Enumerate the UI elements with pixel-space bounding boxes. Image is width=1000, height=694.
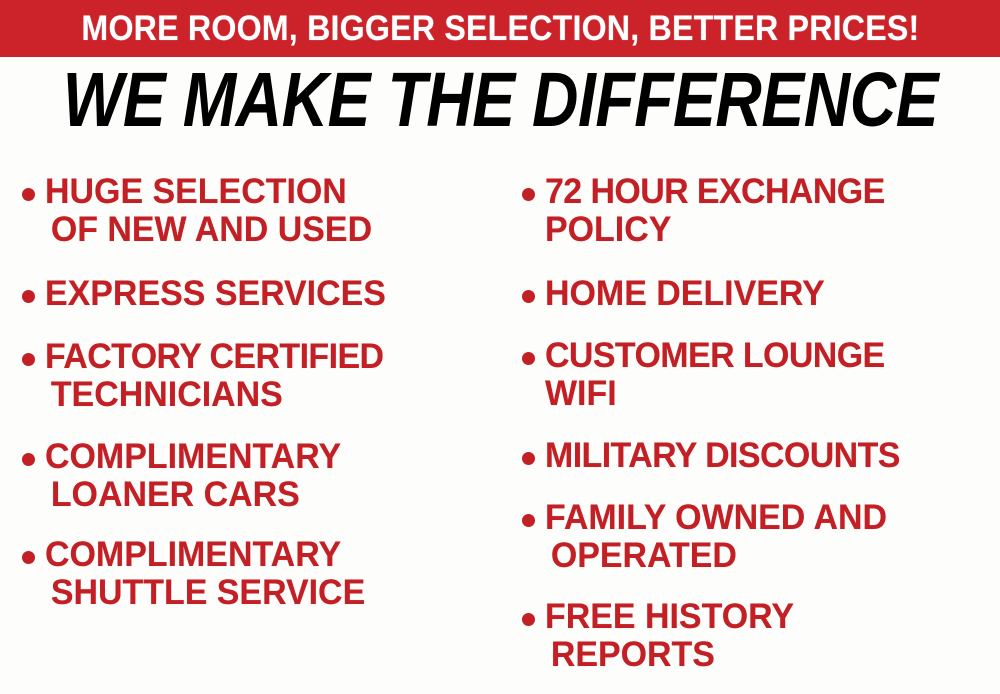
list-item-text: HUGE SELECTION OF NEW AND USED — [45, 173, 492, 249]
list-item-line: HUGE SELECTION — [45, 173, 479, 211]
list-item-line: FREE HISTORY — [545, 598, 979, 636]
list-item-line: MILITARY DISCOUNTS — [545, 437, 986, 475]
bullet-dot-icon — [522, 452, 535, 465]
bullet-dot-icon — [522, 352, 535, 365]
list-item: FREE HISTORY REPORTS — [522, 598, 992, 674]
headline: WE MAKE THE DIFFERENCE — [0, 63, 1000, 138]
promo-banner: MORE ROOM, BIGGER SELECTION, BETTER PRIC… — [0, 0, 1000, 57]
list-item-line: FAMILY OWNED AND — [545, 499, 979, 537]
list-item-text: HOME DELIVERY — [545, 275, 992, 313]
list-item-line: REPORTS — [545, 636, 979, 674]
list-item-line: HOME DELIVERY — [545, 275, 979, 313]
list-item-line: COMPLIMENTARY — [45, 438, 479, 476]
bullet-dot-icon — [22, 188, 35, 201]
list-item-text: MILITARY DISCOUNTS — [545, 437, 1000, 475]
promo-banner-text: MORE ROOM, BIGGER SELECTION, BETTER PRIC… — [81, 11, 919, 46]
list-item: FAMILY OWNED AND OPERATED — [522, 499, 992, 575]
feature-column-left: HUGE SELECTION OF NEW AND USED EXPRESS S… — [0, 150, 500, 694]
bullet-dot-icon — [22, 290, 35, 303]
bullet-dot-icon — [522, 613, 535, 626]
feature-columns: HUGE SELECTION OF NEW AND USED EXPRESS S… — [0, 150, 1000, 694]
list-item-text: CUSTOMER LOUNGE WIFI — [545, 337, 1000, 413]
list-item-text: COMPLIMENTARY LOANER CARS — [45, 438, 492, 514]
list-item-text: COMPLIMENTARY SHUTTLE SERVICE — [45, 536, 492, 612]
list-item: FACTORY CERTIFIED TECHNICIANS — [22, 338, 500, 414]
bullet-dot-icon — [522, 514, 535, 527]
list-item: HUGE SELECTION OF NEW AND USED — [22, 173, 492, 249]
list-item-line: OF NEW AND USED — [45, 211, 479, 249]
list-item-line: EXPRESS SERVICES — [45, 275, 479, 313]
list-item-line: COMPLIMENTARY — [45, 536, 479, 574]
headline-text: WE MAKE THE DIFFERENCE — [62, 62, 937, 139]
list-item-text: FAMILY OWNED AND OPERATED — [545, 499, 992, 575]
list-item: MILITARY DISCOUNTS — [522, 437, 1000, 475]
list-item-text: FACTORY CERTIFIED TECHNICIANS — [45, 338, 500, 414]
list-item: 72 HOUR EXCHANGE POLICY — [522, 173, 1000, 249]
list-item-line: TECHNICIANS — [45, 376, 486, 414]
list-item-line: FACTORY CERTIFIED — [45, 338, 486, 376]
list-item-text: 72 HOUR EXCHANGE POLICY — [545, 173, 1000, 249]
list-item-line: POLICY — [545, 211, 986, 249]
list-item: COMPLIMENTARY SHUTTLE SERVICE — [22, 536, 492, 612]
list-item-line: WIFI — [545, 375, 986, 413]
list-item-text: FREE HISTORY REPORTS — [545, 598, 992, 674]
list-item-line: SHUTTLE SERVICE — [45, 574, 479, 612]
list-item-line: CUSTOMER LOUNGE — [545, 337, 986, 375]
bullet-dot-icon — [522, 188, 535, 201]
list-item: CUSTOMER LOUNGE WIFI — [522, 337, 1000, 413]
bullet-dot-icon — [522, 290, 535, 303]
list-item-line: 72 HOUR EXCHANGE — [545, 173, 986, 211]
list-item-line: LOANER CARS — [45, 476, 479, 514]
feature-column-right: 72 HOUR EXCHANGE POLICY HOME DELIVERY CU… — [500, 150, 1000, 694]
list-item: EXPRESS SERVICES — [22, 275, 492, 313]
list-item: HOME DELIVERY — [522, 275, 992, 313]
bullet-dot-icon — [22, 353, 35, 366]
bullet-dot-icon — [22, 453, 35, 466]
list-item-text: EXPRESS SERVICES — [45, 275, 492, 313]
list-item: COMPLIMENTARY LOANER CARS — [22, 438, 492, 514]
bullet-dot-icon — [22, 551, 35, 564]
list-item-line: OPERATED — [545, 537, 979, 575]
